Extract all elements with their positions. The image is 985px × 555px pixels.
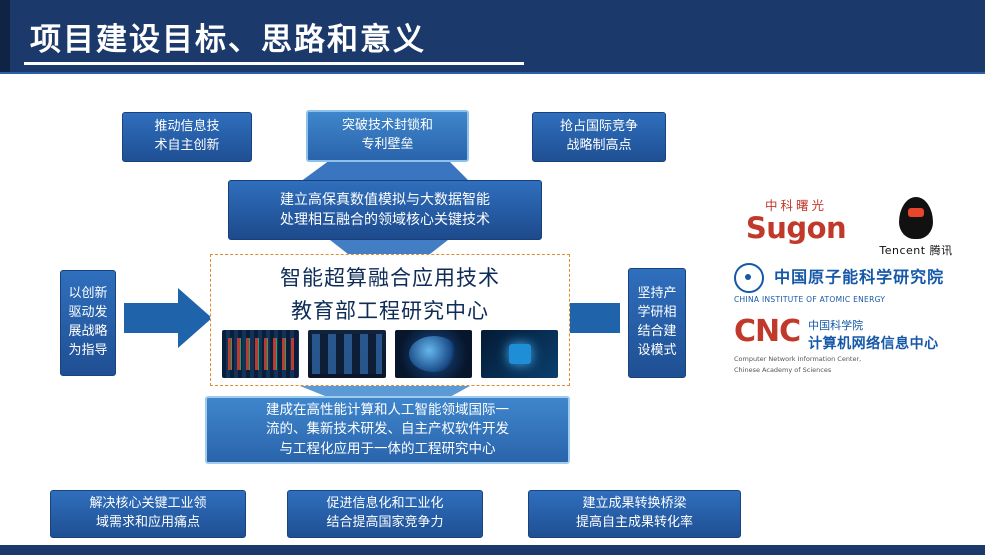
atomic-energy-logo-en: CHINA INSTITUTE OF ATOMIC ENERGY — [734, 295, 960, 304]
footer-band — [0, 545, 985, 555]
arrow-left-to-center — [124, 288, 212, 348]
atomic-energy-logo-cn: 中国原子能科学研究院 — [774, 268, 944, 287]
tencent-logo: Tencent 腾讯 — [866, 197, 966, 258]
penguin-icon — [899, 197, 933, 239]
cnic-logo-line4: Chinese Academy of Sciences — [734, 366, 964, 375]
cnic-logo: CNC 中国科学院 计算机网络信息中心 Computer Network Inf… — [734, 317, 964, 375]
strategy-box-right-line2: 学研相 — [637, 304, 676, 323]
strategy-box-right-line3: 结合建 — [637, 323, 676, 342]
cnic-logo-mark: CNC — [734, 317, 800, 347]
core-technology-box[interactable]: 建立高保真数值模拟与大数据智能 处理相互融合的领域核心关键技术 — [228, 180, 542, 240]
goal-box-breakthrough[interactable]: 突破技术封锁和 专利壁垒 — [306, 110, 469, 162]
significance-box-informatization-line1: 促进信息化和工业化 — [326, 495, 443, 514]
strategy-box-right-line1: 坚持产 — [637, 285, 676, 304]
significance-box-transfer[interactable]: 建立成果转换桥梁 提高自主成果转化率 — [528, 490, 741, 538]
significance-box-transfer-line2: 提高自主成果转化率 — [576, 514, 693, 533]
goal-box-competition-line2: 战略制高点 — [560, 137, 638, 156]
strategy-box-left-line3: 展战略 — [68, 323, 107, 342]
strategy-box-left-line1: 以创新 — [68, 285, 107, 304]
significance-box-informatization[interactable]: 促进信息化和工业化 结合提高国家竞争力 — [287, 490, 483, 538]
atomic-energy-logo: 中国原子能科学研究院 CHINA INSTITUTE OF ATOMIC ENE… — [734, 263, 960, 304]
supercomputer-rack-photo — [222, 330, 299, 378]
vision-box[interactable]: 建成在高性能计算和人工智能领域国际一 流的、集新技术研发、自主产权软件开发 与工… — [205, 396, 570, 464]
strategy-box-right-line4: 设模式 — [637, 342, 676, 361]
vision-box-line1: 建成在高性能计算和人工智能领域国际一 — [266, 401, 509, 421]
goal-box-breakthrough-line1: 突破技术封锁和 — [342, 117, 433, 136]
goal-box-innovation-line1: 推动信息技 — [154, 118, 219, 137]
significance-box-industry-line2: 域需求和应用痛点 — [89, 514, 206, 533]
funnel-connector-top — [300, 160, 470, 182]
vision-box-line2: 流的、集新技术研发、自主产权软件开发 — [266, 420, 509, 440]
server-room-photo — [308, 330, 385, 378]
partner-logos: 中科曙光 Sugon Tencent 腾讯 中国原子能科学研究院 CHINA I… — [720, 195, 970, 395]
goal-box-breakthrough-line2: 专利壁垒 — [342, 136, 433, 155]
goal-box-innovation[interactable]: 推动信息技 术自主创新 — [122, 112, 252, 162]
goal-box-competition[interactable]: 抢占国际竞争 战略制高点 — [532, 112, 666, 162]
vision-box-line3: 与工程化应用于一体的工程研究中心 — [266, 440, 509, 460]
strategy-box-right[interactable]: 坚持产 学研相 结合建 设模式 — [628, 268, 686, 378]
significance-box-industry[interactable]: 解决核心关键工业领 域需求和应用痛点 — [50, 490, 246, 538]
significance-box-industry-line1: 解决核心关键工业领 — [89, 495, 206, 514]
sugon-logo: 中科曙光 Sugon — [736, 195, 856, 243]
core-technology-line2: 处理相互融合的领域核心关键技术 — [280, 210, 490, 230]
strategy-box-left-line2: 驱动发 — [68, 304, 107, 323]
chip-circuit-photo — [481, 330, 558, 378]
significance-box-informatization-line2: 结合提高国家竞争力 — [326, 514, 443, 533]
core-technology-line1: 建立高保真数值模拟与大数据智能 — [280, 190, 490, 210]
sugon-logo-en: Sugon — [736, 214, 856, 243]
thumbnail-strip — [222, 330, 558, 378]
center-title-line1: 智能超算融合应用技术 — [280, 266, 500, 290]
goal-box-competition-line1: 抢占国际竞争 — [560, 118, 638, 137]
tencent-logo-name: Tencent 腾讯 — [866, 242, 966, 258]
strategy-box-left[interactable]: 以创新 驱动发 展战略 为指导 — [60, 270, 116, 376]
ai-brain-network-photo — [395, 330, 472, 378]
strategy-box-left-line4: 为指导 — [68, 342, 107, 361]
center-title-line2: 教育部工程研究中心 — [216, 295, 564, 328]
significance-box-transfer-line1: 建立成果转换桥梁 — [576, 495, 693, 514]
funnel-connector-core — [330, 240, 448, 254]
atom-icon — [734, 263, 764, 293]
center-title: 智能超算融合应用技术 教育部工程研究中心 — [216, 262, 564, 327]
cnic-logo-line3: Computer Network Information Center, — [734, 355, 964, 364]
goal-box-innovation-line2: 术自主创新 — [154, 137, 219, 156]
